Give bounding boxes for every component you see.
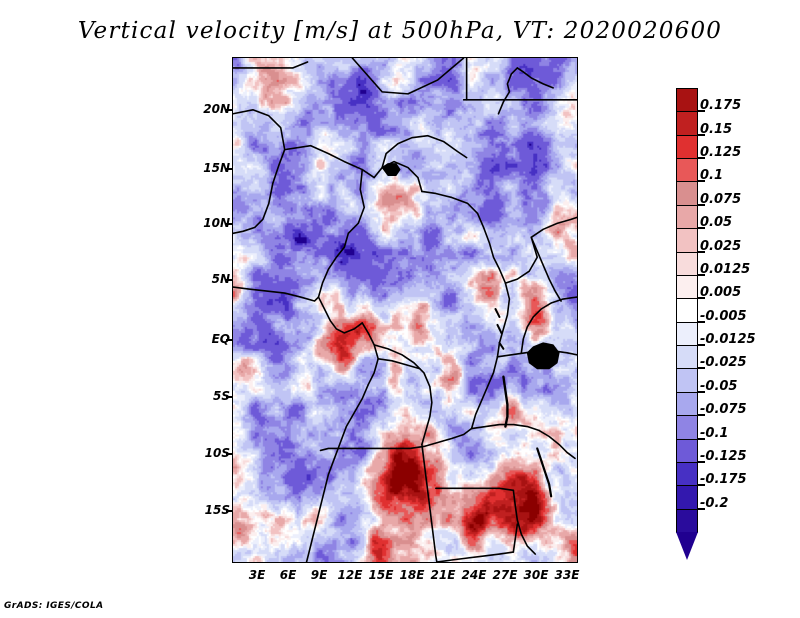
colorbar-segment-13 xyxy=(676,392,698,417)
colorbar-segment-3 xyxy=(676,158,698,183)
colorbar-segment-6 xyxy=(676,228,698,253)
y-tick-5s xyxy=(226,396,232,398)
country-borders-overlay xyxy=(233,58,577,562)
y-tick-20n xyxy=(226,109,232,111)
y-axis-label-15n: 15N xyxy=(192,161,230,175)
y-axis-label-eq: EQ xyxy=(192,332,230,346)
colorbar-label-7: 0.0125 xyxy=(700,263,750,276)
colorbar-segment-2 xyxy=(676,135,698,160)
y-tick-15n xyxy=(226,168,232,170)
page-title: Vertical velocity [m/s] at 500hPa, VT: 2… xyxy=(0,18,800,44)
y-tick-eq xyxy=(226,339,232,341)
colorbar-segment-12 xyxy=(676,368,698,393)
colorbar-label-10: -0.0125 xyxy=(700,333,756,346)
colorbar-segment-9 xyxy=(676,298,698,323)
colorbar-segment-1 xyxy=(676,111,698,136)
colorbar-label-11: -0.025 xyxy=(700,356,747,369)
y-axis-label-15s: 15S xyxy=(192,503,230,517)
colorbar-label-16: -0.175 xyxy=(700,473,747,486)
grads-attribution: GrADS: IGES/COLA xyxy=(4,601,104,611)
y-tick-5n xyxy=(226,279,232,281)
colorbar-segment-0 xyxy=(676,88,698,113)
colorbar-label-17: -0.2 xyxy=(700,497,728,510)
colorbar-segment-7 xyxy=(676,252,698,277)
y-tick-10s xyxy=(226,453,232,455)
colorbar-segment-5 xyxy=(676,205,698,230)
colorbar-label-13: -0.075 xyxy=(700,403,747,416)
colorbar-label-9: -0.005 xyxy=(700,310,747,323)
x-axis-label-3e: 3E xyxy=(241,568,273,582)
colorbar-label-8: 0.005 xyxy=(700,286,741,299)
colorbar-segment-16 xyxy=(676,462,698,487)
colorbar-segment-4 xyxy=(676,181,698,206)
colorbar-label-3: 0.1 xyxy=(700,169,723,182)
y-tick-15s xyxy=(226,510,232,512)
colorbar-segment-18 xyxy=(676,509,698,534)
colorbar-segment-17 xyxy=(676,485,698,510)
colorbar-segment-10 xyxy=(676,322,698,347)
map-plot-area xyxy=(232,57,578,563)
colorbar-segment-15 xyxy=(676,439,698,464)
colorbar-segment-11 xyxy=(676,345,698,370)
y-tick-10n xyxy=(226,223,232,225)
y-axis-label-10n: 10N xyxy=(192,216,230,230)
colorbar-segment-14 xyxy=(676,415,698,440)
colorbar-label-5: 0.05 xyxy=(700,216,732,229)
y-axis-label-20n: 20N xyxy=(192,102,230,116)
y-axis-label-5s: 5S xyxy=(192,389,230,403)
colorbar xyxy=(676,60,698,560)
colorbar-label-6: 0.025 xyxy=(700,240,741,253)
colorbar-label-2: 0.125 xyxy=(700,146,741,159)
colorbar-label-0: 0.175 xyxy=(700,99,741,112)
x-axis-label-6e: 6E xyxy=(272,568,304,582)
colorbar-label-12: -0.05 xyxy=(700,380,737,393)
colorbar-label-15: -0.125 xyxy=(700,450,747,463)
x-axis-label-33e: 33E xyxy=(548,568,586,582)
colorbar-label-14: -0.1 xyxy=(700,427,728,440)
colorbar-label-1: 0.15 xyxy=(700,123,732,136)
y-axis-label-10s: 10S xyxy=(192,446,230,460)
colorbar-segment-8 xyxy=(676,275,698,300)
y-axis-label-5n: 5N xyxy=(192,272,230,286)
colorbar-label-4: 0.075 xyxy=(700,193,741,206)
colorbar-arrow-bottom xyxy=(676,532,698,560)
